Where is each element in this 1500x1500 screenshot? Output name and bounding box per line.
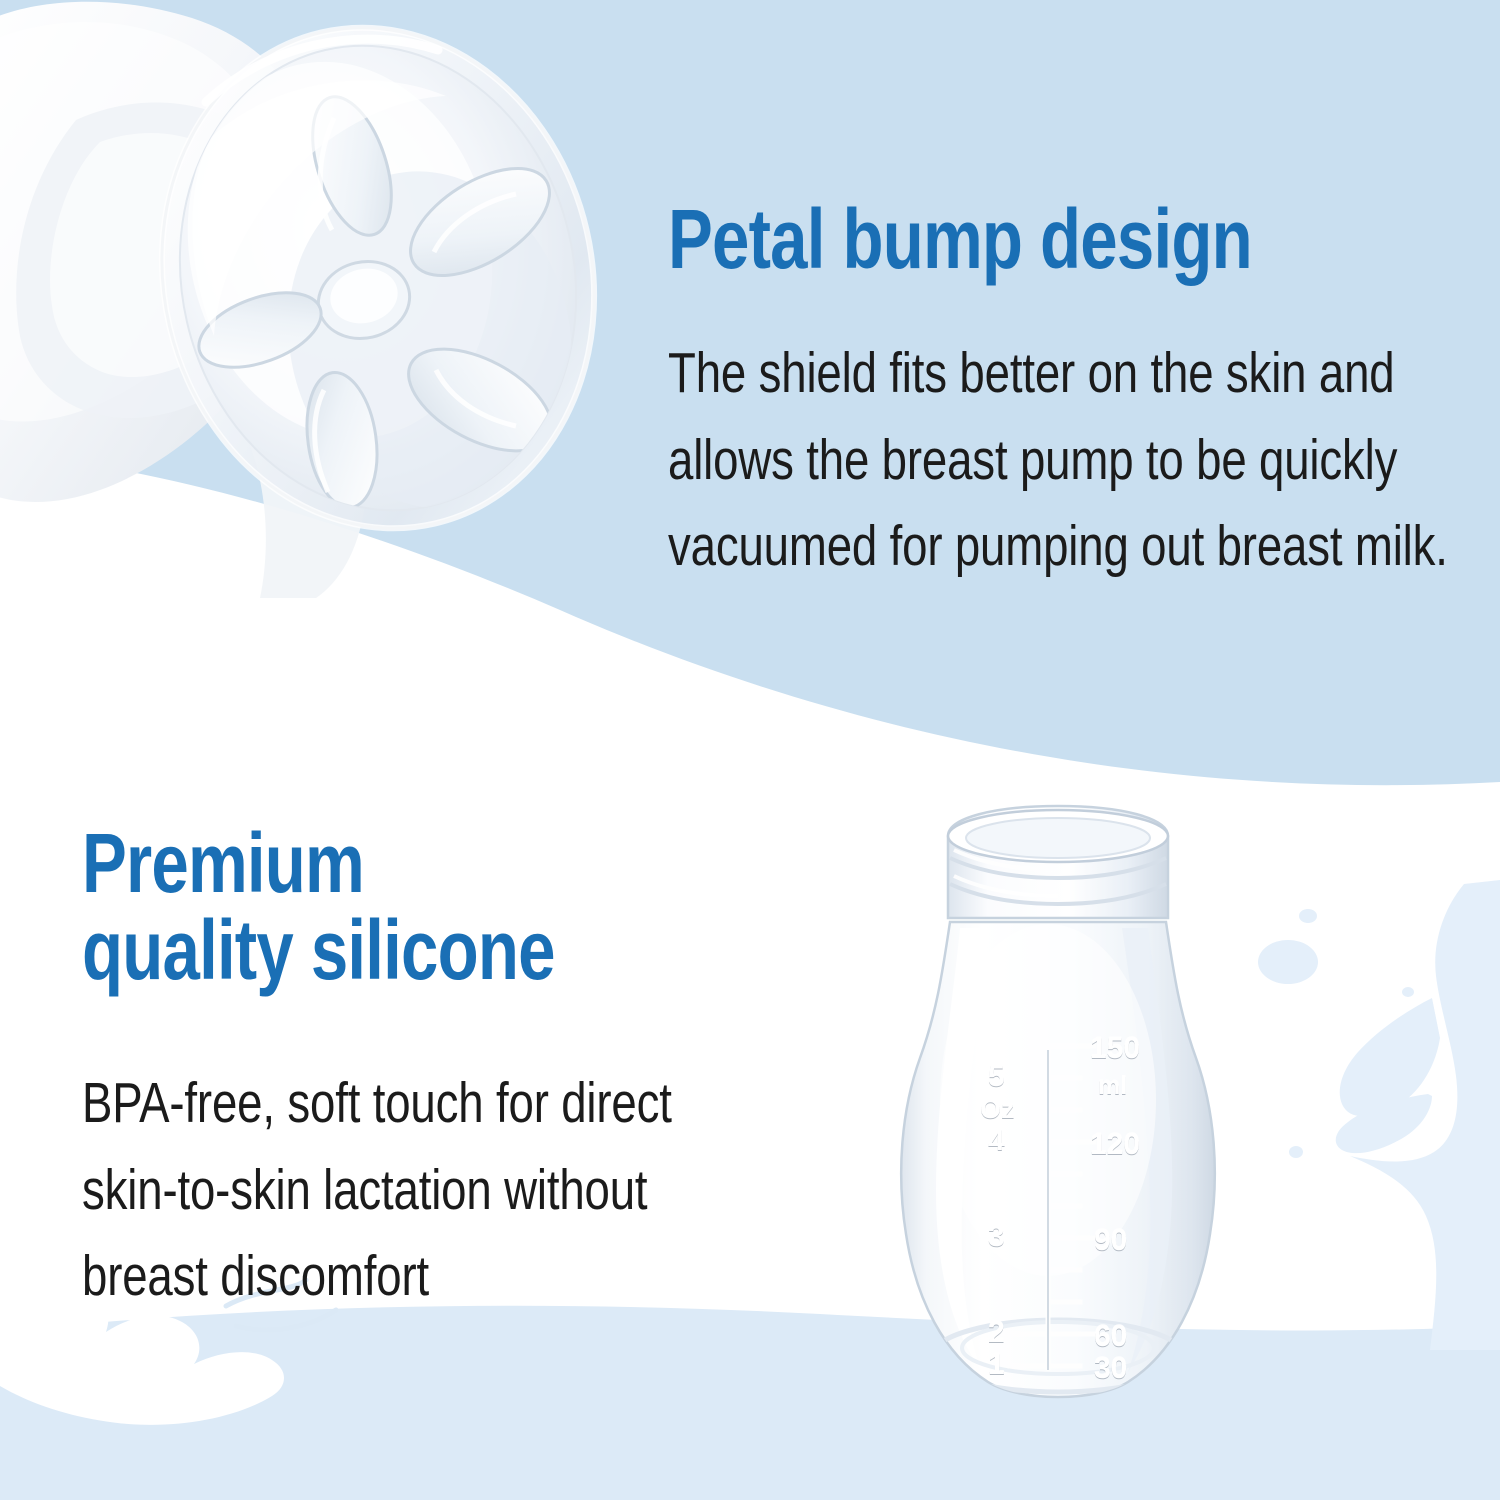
page-title-bottom-line-2: quality silicone <box>82 907 555 994</box>
description-bottom-line-2: skin-to-skin lactation without <box>82 1147 672 1234</box>
infographic-canvas: Petal bump design The shield fits better… <box>0 0 1500 1500</box>
breast-pump-shield-image <box>0 0 680 650</box>
page-title-top: Petal bump design <box>668 196 1252 283</box>
description-bottom-line-1: BPA-free, soft touch for direct <box>82 1060 672 1147</box>
description-top-line-2: allows the breast pump to be quickly <box>668 417 1448 504</box>
description-bottom-line-3: breast discomfort <box>82 1233 672 1320</box>
page-title-bottom-line-1: Premium <box>82 820 555 907</box>
page-title-bottom: Premium quality silicone <box>82 820 555 995</box>
description-top: The shield fits better on the skin and a… <box>668 330 1448 590</box>
description-top-line-3: vacuumed for pumping out breast milk. <box>668 503 1448 590</box>
description-top-line-1: The shield fits better on the skin and <box>668 330 1448 417</box>
milk-collection-bottle-image: 150 ml 120 90 60 30 5 Oz 4 3 2 1 <box>848 800 1268 1500</box>
description-bottom: BPA-free, soft touch for direct skin-to-… <box>82 1060 672 1320</box>
